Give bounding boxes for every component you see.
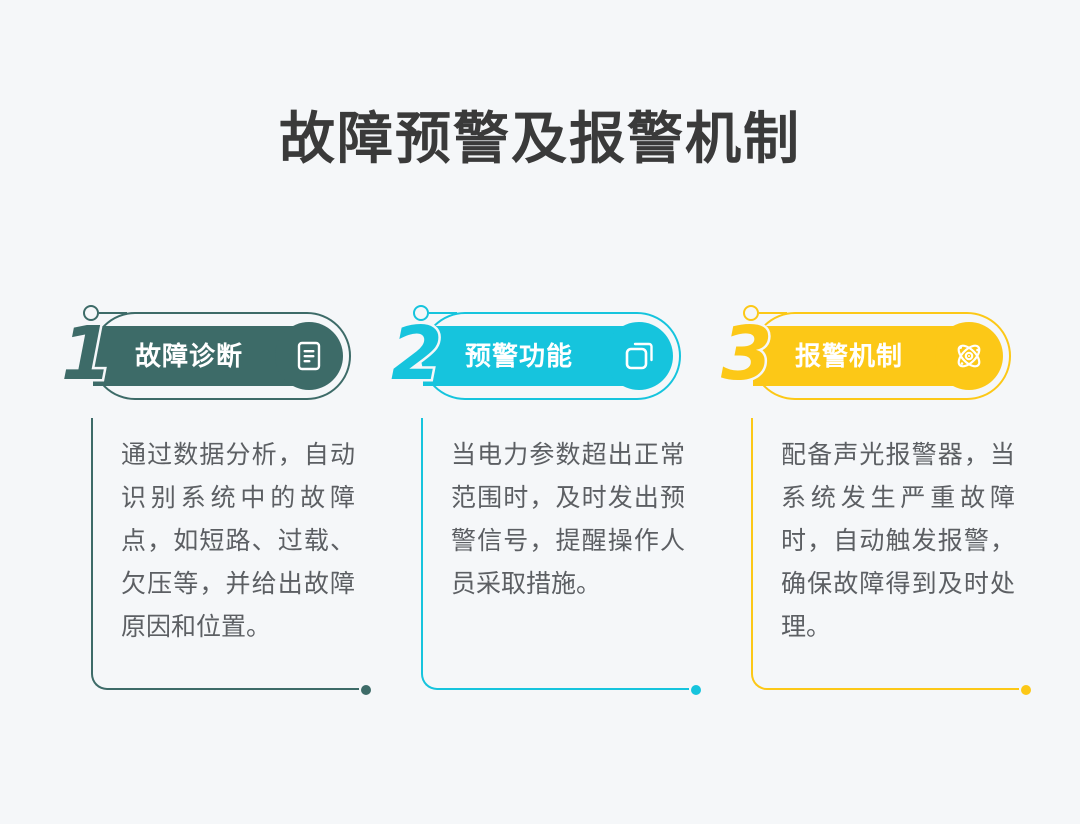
cards-row: 1 故障诊断 通过数据分析，自动识别系统中的故障点，如短路、过载、欠压等，并给出… [0, 300, 1080, 700]
card-fault-diagnosis: 1 故障诊断 通过数据分析，自动识别系统中的故障点，如短路、过载、欠压等，并给出… [45, 300, 375, 700]
card-header: 2 预警功能 [393, 300, 687, 410]
card-body-text: 当电力参数超出正常范围时，及时发出预警信号，提醒操作人员采取措施。 [423, 418, 689, 606]
icon-disc [605, 322, 673, 390]
card-end-dot [1021, 685, 1031, 695]
card-early-warning: 2 预警功能 当电力参数超出正常范围时，及时发出预警信号，提醒操作人员采取措施。 [375, 300, 705, 700]
card-body-text: 配备声光报警器，当系统发生严重故障时，自动触发报警，确保故障得到及时处理。 [753, 418, 1019, 649]
card-end-dot [691, 685, 701, 695]
icon-disc [935, 322, 1003, 390]
card-number: 3 [721, 314, 773, 394]
card-body: 当电力参数超出正常范围时，及时发出预警信号，提醒操作人员采取措施。 [421, 418, 689, 690]
atom-icon [951, 338, 987, 374]
card-body-text: 通过数据分析，自动识别系统中的故障点，如短路、过载、欠压等，并给出故障原因和位置… [93, 418, 359, 649]
card-header: 1 故障诊断 [63, 300, 357, 410]
card-header: 3 报警机制 [723, 300, 1017, 410]
icon-disc [275, 322, 343, 390]
card-body: 配备声光报警器，当系统发生严重故障时，自动触发报警，确保故障得到及时处理。 [751, 418, 1019, 690]
card-number: 2 [391, 314, 443, 394]
document-lines-icon [292, 339, 326, 373]
card-end-dot [361, 685, 371, 695]
card-number: 1 [61, 314, 113, 394]
page-title: 故障预警及报警机制 [0, 104, 1080, 174]
copy-layers-icon [622, 339, 656, 373]
card-body: 通过数据分析，自动识别系统中的故障点，如短路、过载、欠压等，并给出故障原因和位置… [91, 418, 359, 690]
card-alarm-mechanism: 3 报警机制 [705, 300, 1035, 700]
